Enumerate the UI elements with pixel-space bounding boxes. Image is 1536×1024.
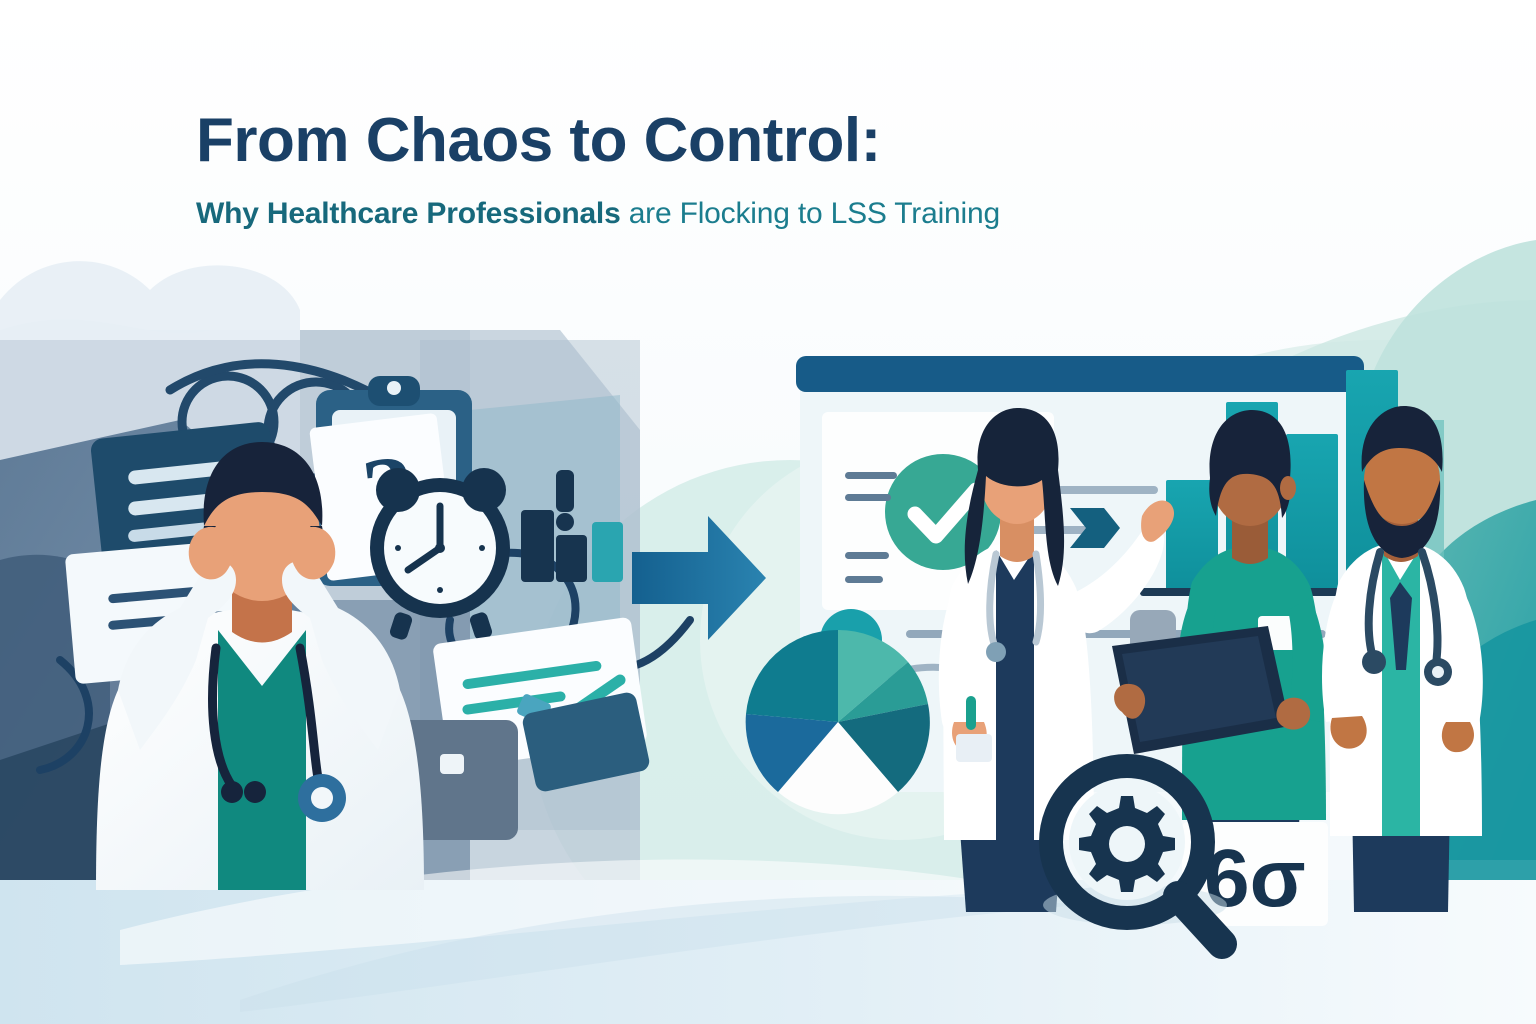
pen-icon — [966, 696, 976, 730]
pie-slices — [746, 630, 930, 814]
gear-icon — [1079, 796, 1175, 892]
chaos-mini-bar-chart — [521, 470, 623, 582]
transition-arrow — [632, 516, 766, 640]
exclamation-mark-icon — [556, 470, 574, 512]
subtitle-strong: Why Healthcare Professionals — [196, 197, 621, 230]
process-pie-chart — [746, 630, 930, 814]
magnifier-gear-icon — [1043, 766, 1227, 944]
page-subtitle: Why Healthcare Professionals are Flockin… — [196, 197, 1296, 231]
headline-block: From Chaos to Control: Why Healthcare Pr… — [196, 108, 1296, 231]
chaos-cluster: ? — [40, 364, 690, 890]
board-header-bar — [796, 356, 1364, 392]
page-title: From Chaos to Control: — [196, 108, 1296, 173]
poster-canvas: From Chaos to Control: Why Healthcare Pr… — [0, 0, 1536, 1024]
alarm-clock-icon — [370, 468, 510, 641]
illustration-layer: ? — [0, 330, 1536, 1024]
subtitle-light: are Flocking to LSS Training — [621, 197, 1000, 230]
control-cluster: 6σ — [746, 356, 1483, 944]
